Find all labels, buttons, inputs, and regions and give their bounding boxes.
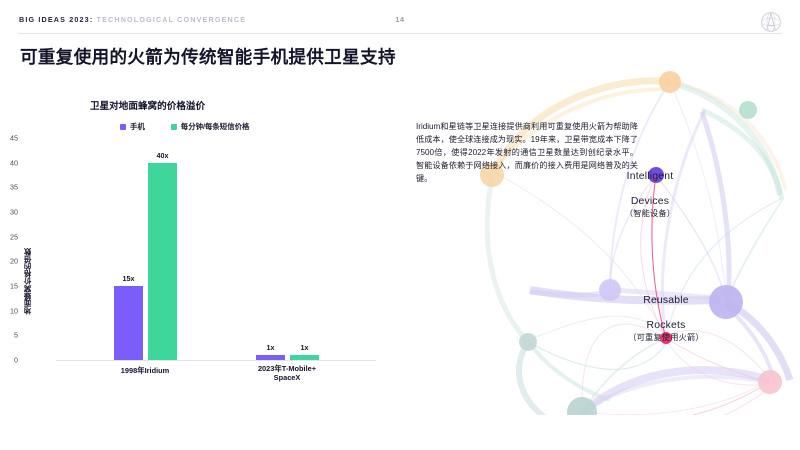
legend-item-price: 每分钟/每条短信价格 (171, 121, 250, 132)
label-intelligent-devices-cn: （智能设备） (570, 209, 730, 219)
bar-1998-price[interactable] (148, 163, 177, 360)
chart-plot-area: 15x 40x 1x 1x (56, 138, 376, 360)
y-tick: 0 (0, 356, 18, 365)
y-tick: 20 (0, 257, 18, 266)
label-intelligent-devices: Intelligent Devices （智能设备） (570, 158, 730, 231)
node-pink-bottomright (758, 370, 782, 394)
legend-label-phone: 手机 (130, 121, 145, 132)
bar-value-1998-phone: 15x (123, 274, 135, 283)
y-tick: 40 (0, 158, 18, 167)
slide-header: BIG IDEAS 2023: TECHNOLOGICAL CONVERGENC… (0, 0, 800, 34)
label-reusable-rockets: Reusable Rockets （可重复使用火箭） (580, 282, 752, 355)
label-intelligent-devices-line2: Devices (631, 196, 669, 207)
y-axis-title: 地面蜂窝价格的倍数 (22, 248, 33, 315)
y-tick: 10 (0, 306, 18, 315)
x-tick-2023: 2023年T-Mobile+ SpaceX (258, 364, 316, 383)
node-teal-left (519, 333, 537, 351)
y-tick: 45 (0, 134, 18, 143)
label-reusable-rockets-cn: （可重复使用火箭） (580, 333, 752, 343)
ark-circle-logo-icon (760, 11, 782, 33)
label-intelligent-devices-line1: Intelligent (627, 171, 674, 182)
y-tick: 15 (0, 282, 18, 291)
y-tick: 30 (0, 208, 18, 217)
bar-value-1998-price: 40x (157, 151, 169, 160)
node-teal-bottomleft (567, 397, 597, 415)
legend-swatch-purple (120, 124, 126, 130)
page-number: 14 (0, 15, 800, 24)
page-title: 可重复使用的火箭为传统智能手机提供卫星支持 (20, 44, 396, 69)
legend-swatch-green (171, 124, 177, 130)
y-tick: 25 (0, 232, 18, 241)
bar-1998-phone[interactable] (114, 286, 143, 360)
chart-title: 卫星对地面蜂窝的价格溢价 (90, 98, 205, 112)
bar-value-2023-phone: 1x (267, 343, 275, 352)
node-orange-top (659, 71, 681, 93)
header-divider (18, 33, 782, 34)
legend-item-phone: 手机 (120, 121, 145, 132)
label-reusable-rockets-line2: Rockets (647, 320, 686, 331)
y-tick: 5 (0, 331, 18, 340)
legend-label-price: 每分钟/每条短信价格 (181, 121, 250, 132)
chart-x-axis-line (56, 360, 376, 361)
x-tick-1998: 1998年Iridium (121, 366, 169, 375)
bar-value-2023-price: 1x (301, 343, 309, 352)
node-green-topright (739, 101, 757, 119)
chart-legend: 手机 每分钟/每条短信价格 (120, 121, 320, 132)
label-reusable-rockets-line1: Reusable (643, 295, 689, 306)
bar-chart: 卫星对地面蜂窝的价格溢价 手机 每分钟/每条短信价格 地面蜂窝价格的倍数 0 5… (0, 88, 400, 408)
y-tick: 35 (0, 183, 18, 192)
